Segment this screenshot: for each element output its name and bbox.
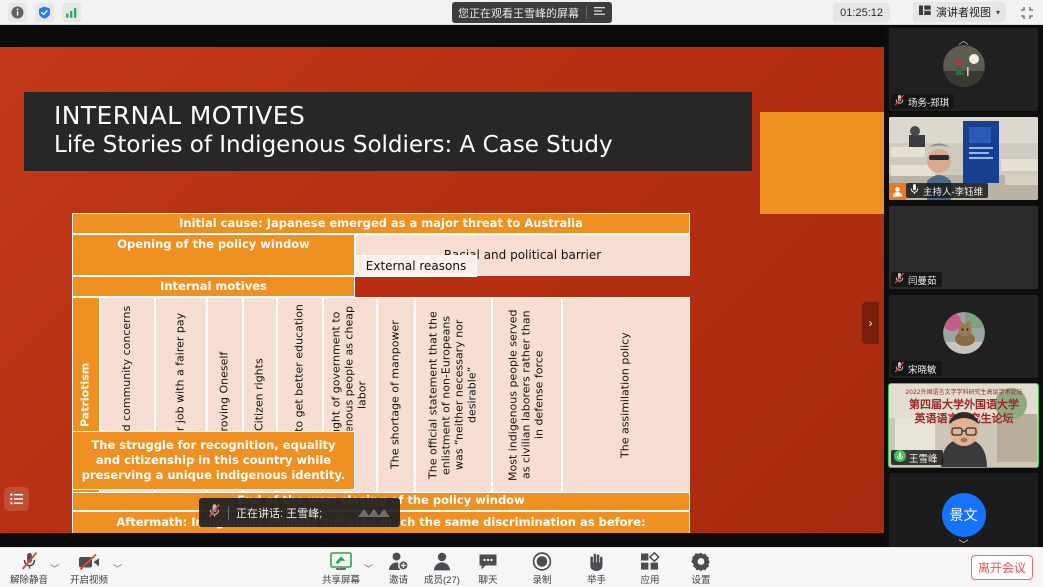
share-screen-label: 共享屏幕	[322, 572, 360, 586]
chat-button[interactable]: 聊天	[478, 551, 498, 586]
mic-muted-icon	[894, 94, 905, 109]
diagram-external-reasons-label: External reasons	[355, 255, 477, 277]
participant-tile-2[interactable]: 闫曼茹	[888, 205, 1039, 290]
screen-share-notice: 您正在观看王雪峰的屏幕	[452, 2, 612, 23]
participant-name-2: 闫曼茹	[908, 273, 937, 287]
raise-hand-icon	[587, 551, 606, 571]
divider	[586, 6, 587, 19]
sound-wave-icon	[357, 506, 391, 519]
apps-button[interactable]: 应用	[640, 551, 660, 586]
raise-hand-button[interactable]: 举手	[587, 551, 606, 586]
bottom-toolbar: 解除静音 ﹀ 开启视频 ﹀ 共享屏幕	[0, 547, 1043, 587]
audio-options-caret-icon[interactable]: ﹀	[50, 562, 59, 575]
participant-tile-1[interactable]: 主持人-李钰维	[888, 116, 1039, 201]
shared-screen-stage: INTERNAL MOTIVES Life Stories of Indigen…	[0, 25, 884, 547]
mic-icon	[909, 183, 920, 198]
speaking-indicator-text: 正在讲话: 王雪峰;	[236, 505, 322, 521]
collapse-panel-arrow[interactable]: ›	[862, 302, 879, 344]
mic-muted-icon	[20, 551, 39, 571]
svg-text:第四届大学外国语大学: 第四届大学外国语大学	[909, 397, 1019, 411]
diagram-struggle-row: The struggle for recognition, equality a…	[72, 431, 690, 489]
video-options-caret-icon[interactable]: ﹀	[113, 562, 122, 575]
participant-nameplate-0: 场务-郑琪	[891, 94, 954, 109]
mic-muted-icon	[894, 272, 905, 287]
host-badge	[889, 183, 906, 200]
participants-label: 成员(27)	[424, 572, 460, 586]
leave-meeting-button[interactable]: 离开会议	[971, 555, 1033, 580]
chevron-down-icon: ▾	[996, 8, 1000, 17]
participant-tile-4[interactable]: 2022外国语言文学学科研究生高层学术论坛 第四届大学外国语大学 英语语言研究生…	[888, 383, 1039, 468]
participant-name-1: 主持人-李钰维	[923, 184, 983, 198]
settings-label: 设置	[691, 572, 710, 586]
invite-button[interactable]: 邀请	[388, 551, 409, 586]
raise-hand-label: 举手	[587, 572, 606, 586]
participant-name-0: 场务-郑琪	[908, 95, 949, 109]
participant-tile-0[interactable]: ︿ 场务-郑琪	[888, 27, 1039, 112]
share-screen-button[interactable]: 共享屏幕	[322, 551, 360, 586]
participant-panel[interactable]: ︿ 场务-郑琪	[884, 25, 1043, 547]
start-video-label: 开启视频	[70, 572, 108, 586]
participant-nameplate-1: 主持人-李钰维	[906, 183, 988, 198]
presentation-slide: INTERNAL MOTIVES Life Stories of Indigen…	[0, 25, 884, 547]
participant-name-4: 王雪峰	[909, 451, 938, 465]
slide-title-main: INTERNAL MOTIVES	[54, 101, 752, 130]
shield-icon[interactable]	[35, 3, 54, 22]
exit-fullscreen-icon[interactable]	[1018, 4, 1035, 21]
participant-nameplate-3: 宋晓敏	[891, 361, 942, 376]
unmute-label: 解除静音	[10, 572, 48, 586]
slide-decoration-block	[760, 112, 884, 214]
mic-muted-icon	[208, 503, 221, 523]
mic-muted-icon	[894, 361, 905, 376]
speaker-view-icon	[919, 5, 931, 19]
chat-bubble-icon	[478, 551, 498, 571]
gear-icon	[691, 551, 711, 571]
record-button[interactable]: 录制	[532, 551, 552, 586]
settings-button[interactable]: 设置	[691, 551, 711, 586]
participant-name-3: 宋晓敏	[908, 362, 937, 376]
top-bar: 您正在观看王雪峰的屏幕 01:25:12 演讲者视图 ▾	[0, 0, 1043, 25]
avatar	[943, 45, 985, 87]
signal-bars-icon[interactable]	[62, 3, 81, 22]
diagram-spillover: Spillover effects: A series of successfu…	[72, 540, 690, 547]
diagram-initial-cause: Initial cause: Japanese emerged as a maj…	[72, 213, 690, 234]
svg-text:2022外国语言文学学科研究生高层学术论坛: 2022外国语言文学学科研究生高层学术论坛	[905, 388, 1022, 396]
diagram-struggle-text: The struggle for recognition, equality a…	[72, 431, 355, 489]
invite-person-icon	[388, 551, 409, 571]
avatar	[943, 312, 985, 354]
apps-label: 应用	[640, 572, 659, 586]
slide-title-sub: Life Stories of Indigenous Soldiers: A C…	[54, 132, 752, 158]
diagram-internal-motives-label: Internal motives	[72, 276, 355, 297]
invite-label: 邀请	[389, 572, 408, 586]
view-mode-label: 演讲者视图	[936, 4, 991, 20]
zoom-meeting-window: 您正在观看王雪峰的屏幕 01:25:12 演讲者视图 ▾ INTERNAL MO…	[0, 0, 1043, 587]
share-screen-icon	[330, 551, 352, 571]
policy-window-diagram: Initial cause: Japanese emerged as a maj…	[72, 213, 690, 547]
avatar: 景文	[942, 493, 986, 537]
view-mode-selector[interactable]: 演讲者视图 ▾	[913, 2, 1006, 22]
speaking-indicator-toast[interactable]: 正在讲话: 王雪峰;	[199, 498, 400, 527]
apps-icon	[640, 551, 660, 571]
screen-share-notice-text: 您正在观看王雪峰的屏幕	[458, 5, 579, 21]
participant-tile-3[interactable]: 宋晓敏	[888, 294, 1039, 379]
participant-nameplate-4: 王雪峰	[891, 450, 943, 465]
mic-active-icon	[894, 450, 906, 465]
record-icon	[532, 551, 552, 571]
divider	[228, 506, 229, 520]
slide-title-block: INTERNAL MOTIVES Life Stories of Indigen…	[24, 92, 752, 171]
chat-label: 聊天	[478, 572, 497, 586]
participants-button[interactable]: 成员(27)	[424, 551, 460, 586]
meeting-timer: 01:25:12	[833, 3, 890, 22]
unmute-button[interactable]: 解除静音	[10, 551, 48, 586]
info-icon[interactable]	[8, 3, 27, 22]
share-options-caret-icon[interactable]: ﹀	[364, 562, 373, 575]
menu-icon[interactable]	[594, 6, 606, 19]
start-video-button[interactable]: 开启视频	[70, 551, 108, 586]
record-label: 录制	[532, 572, 551, 586]
participants-icon	[432, 551, 452, 571]
list-menu-icon[interactable]	[4, 487, 29, 511]
diagram-opening-label: Opening of the policy window	[72, 234, 355, 276]
diagram-subheader-row: Internal motives External reasons	[72, 276, 690, 297]
video-off-icon	[78, 551, 100, 571]
participant-tile-5[interactable]: 景文 ﹀	[888, 472, 1039, 557]
participant-nameplate-2: 闫曼茹	[891, 272, 942, 287]
